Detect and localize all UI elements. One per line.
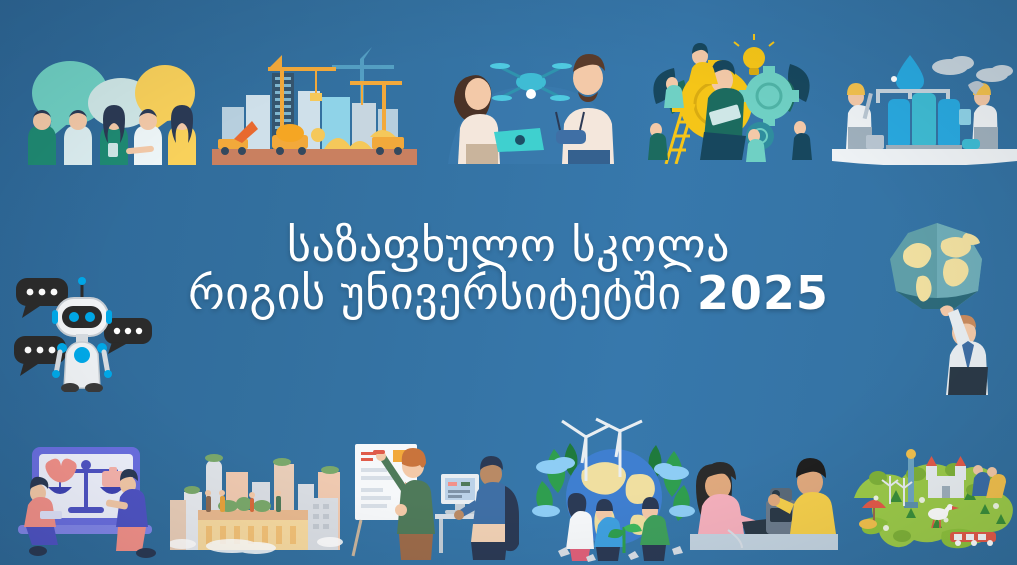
- crane-left-load: [310, 93, 322, 101]
- title-line-2: რიგის უნივერსიტეტში 2025: [0, 270, 1017, 318]
- whiteboard-planning-illustration: [345, 438, 530, 563]
- crane-left-head: [268, 55, 282, 69]
- speech-bubble-right: [104, 318, 152, 354]
- title-year: 2025: [697, 266, 829, 320]
- folk-dancers-landmark: [972, 465, 1006, 498]
- office-chair: [505, 486, 519, 551]
- title-line-2-text: რიგის უნივერსიტეტში: [188, 266, 682, 320]
- person-3: [100, 105, 128, 165]
- person-5: [168, 105, 196, 165]
- warning-sign: [311, 128, 325, 142]
- construction-site-illustration: [212, 35, 417, 165]
- title-block: საზაფხულო სკოლა რიგის უნივერსიტეტში 2025: [0, 222, 1017, 318]
- person-bottom-right: [792, 121, 812, 160]
- work-life-balance-illustration: [10, 435, 170, 560]
- drone-operators-illustration: [428, 32, 633, 164]
- innovation-gears-illustration: [638, 32, 828, 164]
- kids-building-robot-illustration: [670, 438, 845, 560]
- tanks: [886, 93, 962, 153]
- clouds: [932, 56, 1013, 82]
- title-line-1: საზაფხულო სკოლა: [0, 222, 1017, 270]
- remote-controller: [556, 130, 586, 144]
- table-surface: [690, 534, 838, 550]
- latvia-map-illustration: [846, 440, 1014, 560]
- castle-landmark: [926, 456, 966, 498]
- poster-canvas: საზაფხულო სკოლა რიგის უნივერსიტეტში 2025: [0, 0, 1017, 565]
- water-drop-icon: [896, 55, 924, 91]
- people-speech-bubbles-illustration: [8, 35, 208, 165]
- city-skyline-illustration: [170, 438, 345, 560]
- person-pushing-right: [640, 497, 670, 561]
- ground-platform: [832, 149, 1017, 165]
- marker: [373, 450, 385, 454]
- ladder: [666, 104, 694, 164]
- person-bottom-left: [648, 123, 668, 160]
- train-landmark: [950, 532, 996, 546]
- worker-right: [959, 81, 998, 149]
- drone-icon: [490, 63, 572, 101]
- water-treatment-plant-illustration: [832, 35, 1017, 165]
- businessman-figure: [940, 305, 988, 395]
